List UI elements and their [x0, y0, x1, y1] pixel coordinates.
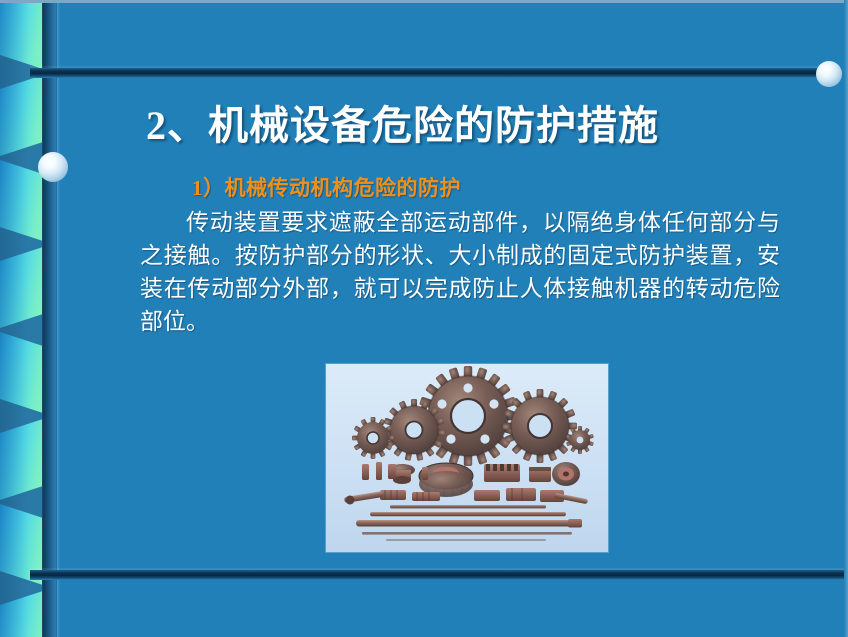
slide-body-paragraph: 传动装置要求遮蔽全部运动部件，以隔绝身体任何部分与之接触。按防护部分的形状、大小…: [140, 206, 780, 338]
ribbon-band: [0, 588, 46, 637]
slide-footer-area: [59, 580, 848, 637]
left-sphere-bullet-icon: [38, 152, 68, 182]
left-frame-spine-highlight: [57, 0, 60, 637]
right-sphere-bullet-icon: [816, 61, 842, 87]
photo-artwork: [326, 364, 608, 552]
top-frame-divider: [30, 68, 820, 78]
presentation-slide: 2、机械设备危险的防护措施 1）机械传动机构危险的防护 传动装置要求遮蔽全部运动…: [0, 0, 848, 637]
ribbon-band: [0, 330, 46, 416]
slide-right-edge: [844, 0, 848, 637]
slide-sub-heading: 1）机械传动机构危险的防护: [192, 172, 461, 202]
gears-sprockets-shafts-photo: [326, 364, 608, 552]
slide-title: 2、机械设备危险的防护措施: [146, 93, 659, 151]
bottom-frame-divider: [30, 570, 848, 580]
ribbon-band: [0, 0, 46, 72]
slide-top-edge: [0, 0, 848, 3]
left-ribbon-decoration: [0, 0, 46, 637]
ribbon-band: [0, 72, 46, 158]
ribbon-band: [0, 416, 46, 502]
ribbon-band: [0, 244, 46, 330]
